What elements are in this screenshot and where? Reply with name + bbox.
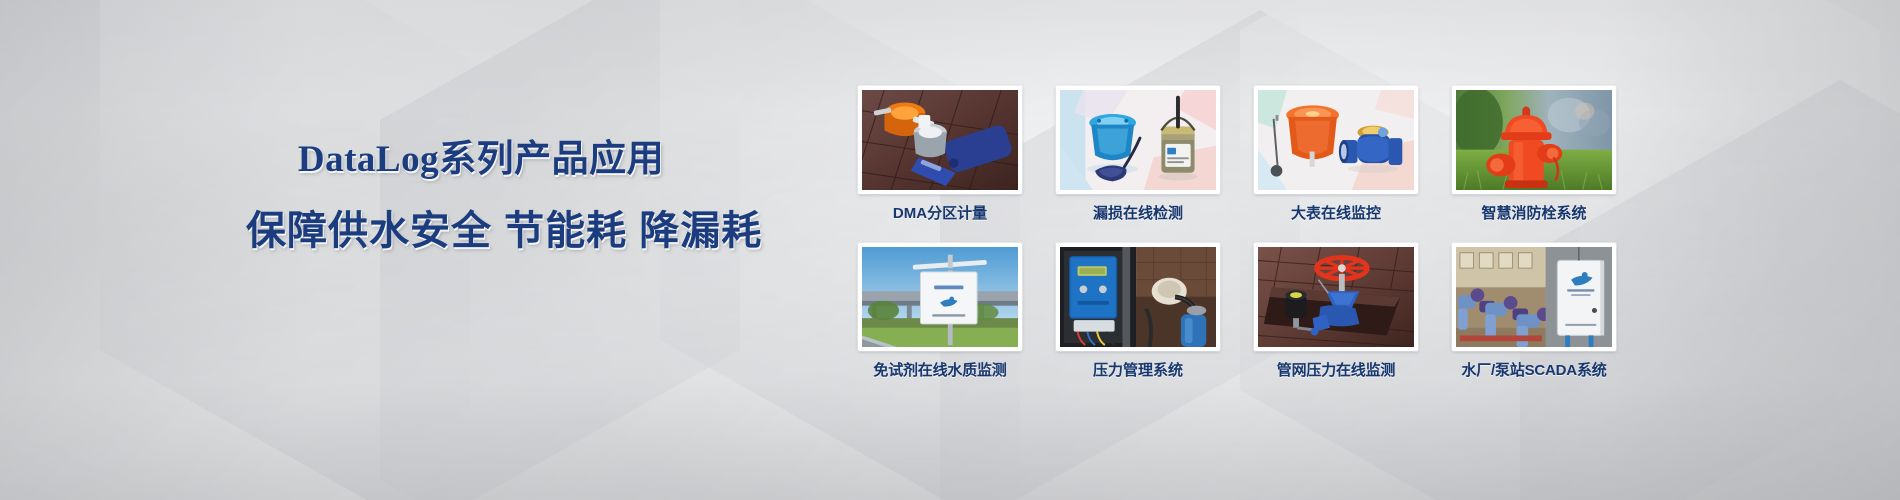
- grid-cell-leak-detection[interactable]: 漏损在线检测: [1056, 86, 1220, 223]
- water-quality-station-photo: [862, 247, 1018, 347]
- thumbnail-frame[interactable]: [1254, 243, 1418, 351]
- large-meter-photo: [1258, 90, 1414, 190]
- grid-row: DMA分区计量: [858, 86, 1578, 223]
- cell-caption: DMA分区计量: [893, 205, 987, 223]
- cell-caption: 智慧消防栓系统: [1481, 205, 1586, 223]
- scada-pump-station-photo: [1456, 247, 1612, 347]
- headline-block: DataLog系列产品应用 保障供水安全 节能耗 降漏耗: [246, 140, 716, 253]
- thumbnail-frame[interactable]: [858, 243, 1022, 351]
- cell-caption: 管网压力在线监测: [1277, 362, 1395, 380]
- product-application-grid: DMA分区计量: [858, 86, 1578, 380]
- leak-detection-photo: [1060, 90, 1216, 190]
- cell-caption: 水厂/泵站SCADA系统: [1461, 362, 1606, 380]
- headline-secondary: 保障供水安全 节能耗 降漏耗: [246, 209, 716, 253]
- grid-cell-pressure-management[interactable]: 压力管理系统: [1056, 243, 1220, 380]
- pipeline-pressure-photo: [1258, 247, 1414, 347]
- thumbnail-frame[interactable]: [1056, 86, 1220, 194]
- thumbnail-frame[interactable]: [1056, 243, 1220, 351]
- grid-cell-large-meter[interactable]: 大表在线监控: [1254, 86, 1418, 223]
- grid-cell-smart-hydrant[interactable]: 智慧消防栓系统: [1452, 86, 1616, 223]
- grid-cell-water-quality-station[interactable]: 免试剂在线水质监测: [858, 243, 1022, 380]
- grid-cell-dma-metering[interactable]: DMA分区计量: [858, 86, 1022, 223]
- thumbnail-frame[interactable]: [1254, 86, 1418, 194]
- cell-caption: 大表在线监控: [1291, 205, 1381, 223]
- cell-caption: 免试剂在线水质监测: [873, 362, 1006, 380]
- thumbnail-frame[interactable]: [858, 86, 1022, 194]
- cell-caption: 压力管理系统: [1093, 362, 1183, 380]
- headline-primary: DataLog系列产品应用: [246, 140, 716, 181]
- grid-row: 免试剂在线水质监测: [858, 243, 1578, 380]
- thumbnail-frame[interactable]: [1452, 243, 1616, 351]
- pressure-management-photo: [1060, 247, 1216, 347]
- thumbnail-frame[interactable]: [1452, 86, 1616, 194]
- product-application-banner: DataLog系列产品应用 保障供水安全 节能耗 降漏耗: [0, 0, 1900, 500]
- dma-metering-photo: [862, 90, 1018, 190]
- grid-cell-pipeline-pressure[interactable]: 管网压力在线监测: [1254, 243, 1418, 380]
- grid-cell-scada-pump-station[interactable]: 水厂/泵站SCADA系统: [1452, 243, 1616, 380]
- smart-hydrant-photo: [1456, 90, 1612, 190]
- cell-caption: 漏损在线检测: [1093, 205, 1183, 223]
